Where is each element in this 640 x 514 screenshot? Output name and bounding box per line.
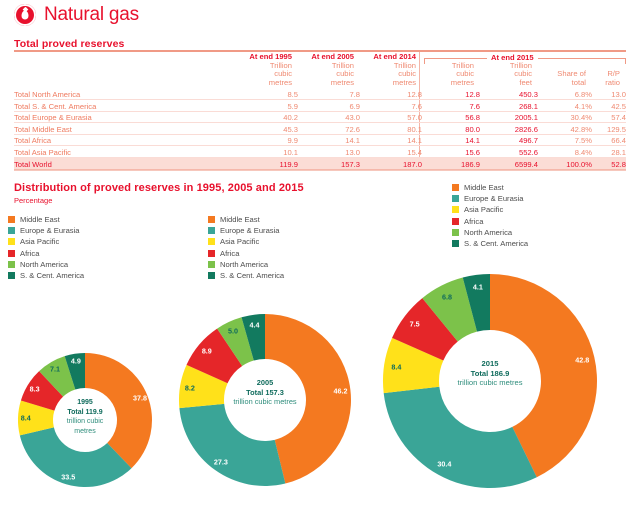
legend-item: S. & Cent. America (8, 270, 84, 281)
legend-swatch-icon (452, 218, 459, 225)
donut-slice[interactable] (422, 278, 477, 342)
table-row-label: Total Europe & Eurasia (14, 111, 236, 123)
legend-label: Middle East (220, 214, 260, 225)
table-cell-share: 8.4% (538, 146, 592, 158)
table-body: Total North America8.57.812.812.8450.36.… (14, 88, 626, 170)
legend-swatch-icon (452, 229, 459, 236)
donut-slice-label: 6.8 (442, 292, 452, 301)
legend-swatch-icon (8, 227, 15, 234)
legend-item: Asia Pacific (8, 236, 84, 247)
legend-label: Asia Pacific (20, 236, 59, 247)
legend-label: Europe & Eurasia (464, 193, 524, 204)
table-row-total-world: Total World119.9157.3187.0186.96599.4100… (14, 158, 626, 170)
col-header-1995: At end 1995 Trillion cubic metres (236, 52, 298, 88)
table-cell-v2005: 43.0 (298, 111, 360, 123)
donut-center-year: 1995 (56, 398, 114, 408)
legend-label: Middle East (464, 182, 504, 193)
table-cell-rp: 13.0 (592, 88, 626, 100)
legend-swatch-icon (208, 216, 215, 223)
donut-center-unit: trillion cubic metres (227, 397, 303, 407)
donut-slice-label: 8.3 (30, 384, 40, 393)
donut-center-unit: trillion cubic metres (442, 378, 538, 388)
legend-swatch-icon (208, 250, 215, 257)
legend-item: S. & Cent. America (208, 270, 284, 281)
table-bottom-rule (14, 170, 626, 171)
table-row: Total Europe & Eurasia40.243.057.056.820… (14, 111, 626, 123)
legend-swatch-icon (452, 184, 459, 191)
col-header-2015-tcm: Trillion cubic metres (422, 52, 480, 88)
donut-slice-label: 8.9 (202, 346, 212, 355)
table-cell-v2005: 7.8 (298, 88, 360, 100)
table-cell-v2005: 13.0 (298, 146, 360, 158)
legend-swatch-icon (208, 272, 215, 279)
legend-item: Europe & Eurasia (8, 225, 84, 236)
donut-slice-label: 4.1 (473, 283, 483, 292)
table-cell-tcf2015: 2826.6 (480, 123, 538, 135)
donut-slice-label: 7.1 (50, 364, 60, 373)
legend-label: Europe & Eurasia (220, 225, 280, 236)
col-header-share: Share of total (538, 52, 592, 88)
legend-item: Middle East (8, 214, 84, 225)
table-cell-v2014: 15.4 (360, 146, 422, 158)
legend-swatch-icon (208, 238, 215, 245)
col-header-share-l2: total (538, 79, 586, 87)
donut-slice[interactable] (179, 404, 285, 486)
legend-label: North America (464, 227, 512, 238)
table-cell-v1995: 5.9 (236, 100, 298, 112)
legend-label: Africa (220, 248, 239, 259)
table-row: Total Middle East45.372.680.180.02826.64… (14, 123, 626, 135)
donut-slice[interactable] (217, 317, 254, 366)
legend-item: S. & Cent. America (452, 238, 528, 249)
table-cell-tcf2015: 552.6 (480, 146, 538, 158)
section-title-total-proved-reserves: Total proved reserves (14, 38, 124, 50)
donut-center-label: 2015Total 186.9trillion cubic metres (442, 359, 538, 388)
table-cell-v2005: 157.3 (298, 158, 360, 170)
legend-label: S. & Cent. America (464, 238, 528, 249)
table-row: Total S. & Cent. America5.96.97.67.6268.… (14, 100, 626, 112)
table-cell-tcf2015: 450.3 (480, 88, 538, 100)
col-header-rp: R/P ratio (592, 52, 626, 88)
col-header-2005: At end 2005 Trillion cubic metres (298, 52, 360, 88)
donut-slice-label: 7.5 (410, 319, 420, 328)
legend-item: Europe & Eurasia (208, 225, 284, 236)
legend-item: Asia Pacific (452, 204, 528, 215)
table-row: Total Asia Pacific10.113.015.415.6552.68… (14, 146, 626, 158)
table-cell-v2005: 6.9 (298, 100, 360, 112)
table-cell-tcf2015: 2005.1 (480, 111, 538, 123)
col-header-1995-unit-l3: metres (236, 79, 292, 87)
donut-slice-label: 4.4 (250, 320, 260, 329)
table-cell-tcf2015: 6599.4 (480, 158, 538, 170)
col-header-2014: At end 2014 Trillion cubic metres (360, 52, 422, 88)
legend-item: Africa (452, 216, 528, 227)
table-cell-t2015: 186.9 (422, 158, 480, 170)
table-cell-v2014: 57.0 (360, 111, 422, 123)
table-cell-share: 7.5% (538, 134, 592, 146)
legend-label: Asia Pacific (464, 204, 503, 215)
table-corner-cell (14, 52, 236, 88)
table-cell-share: 30.4% (538, 111, 592, 123)
table-cell-t2015: 80.0 (422, 123, 480, 135)
legend-item: North America (8, 259, 84, 270)
table-cell-v1995: 9.9 (236, 134, 298, 146)
legend-1995: Middle EastEurope & EurasiaAsia PacificA… (8, 214, 84, 281)
page-title: Natural gas (44, 4, 139, 26)
table-row-label: Total S. & Cent. America (14, 100, 236, 112)
donut-slice[interactable] (39, 356, 75, 397)
page-header: Natural gas (14, 4, 139, 26)
legend-label: North America (220, 259, 268, 270)
table-cell-share: 100.0% (538, 158, 592, 170)
legend-label: Middle East (20, 214, 60, 225)
table-cell-v1995: 45.3 (236, 123, 298, 135)
table-cell-v1995: 10.1 (236, 146, 298, 158)
table-cell-rp: 52.8 (592, 158, 626, 170)
table-row: Total North America8.57.812.812.8450.36.… (14, 88, 626, 100)
table-cell-v2005: 72.6 (298, 123, 360, 135)
donut-center-total: Total 186.9 (442, 369, 538, 379)
donut-center-total: Total 157.3 (227, 388, 303, 398)
donut-slice-label: 27.3 (214, 457, 228, 466)
table-cell-rp: 42.5 (592, 100, 626, 112)
donut-slice-label: 8.2 (185, 383, 195, 392)
table-row-label: Total North America (14, 88, 236, 100)
legend-label: S. & Cent. America (220, 270, 284, 281)
table-cell-v2014: 12.8 (360, 88, 422, 100)
table-cell-t2015: 56.8 (422, 111, 480, 123)
donut-slice-label: 46.2 (334, 386, 348, 395)
table-row-label: Total Middle East (14, 123, 236, 135)
table-row: Total Africa9.914.114.114.1496.77.5%66.4 (14, 134, 626, 146)
donut-center-year: 2005 (227, 378, 303, 388)
flame-circle-icon (14, 4, 36, 26)
table-cell-t2015: 14.1 (422, 134, 480, 146)
table-cell-t2015: 7.6 (422, 100, 480, 112)
donut-center-unit: trillion cubic metres (56, 417, 114, 436)
table-cell-v2014: 187.0 (360, 158, 422, 170)
legend-label: North America (20, 259, 68, 270)
section-title-distribution: Distribution of proved reserves in 1995,… (14, 182, 304, 194)
legend-swatch-icon (8, 216, 15, 223)
table-row-label: Total Asia Pacific (14, 146, 236, 158)
col-header-2015-tcm-l3: metres (422, 79, 474, 87)
donut-slice[interactable] (392, 298, 458, 360)
table-cell-v2014: 80.1 (360, 123, 422, 135)
legend-swatch-icon (8, 238, 15, 245)
col-header-2015-tcf-l3: feet (480, 79, 532, 87)
table-cell-rp: 57.4 (592, 111, 626, 123)
legend-swatch-icon (452, 206, 459, 213)
table-cell-rp: 28.1 (592, 146, 626, 158)
donut-slice-label: 4.9 (71, 357, 81, 366)
legend-label: Africa (20, 248, 39, 259)
donut-center-label: 1995Total 119.9trillion cubic metres (56, 398, 114, 436)
legend-swatch-icon (208, 227, 215, 234)
col-header-2015-tcf: Trillion cubic feet (480, 52, 538, 88)
legend-label: Asia Pacific (220, 236, 259, 247)
col-header-rp-l2: ratio (592, 79, 620, 87)
donut-slice-label: 33.5 (61, 472, 75, 481)
donut-slice-label: 37.8 (133, 393, 147, 402)
legend-item: Asia Pacific (208, 236, 284, 247)
legend-item: Middle East (452, 182, 528, 193)
donut-slice[interactable] (187, 329, 243, 384)
table-cell-share: 4.1% (538, 100, 592, 112)
legend-item: Europe & Eurasia (452, 193, 528, 204)
legend-item: Africa (8, 248, 84, 259)
table-cell-t2015: 12.8 (422, 88, 480, 100)
donut-slice-label: 30.4 (437, 459, 451, 468)
legend-swatch-icon (8, 272, 15, 279)
donut-slice[interactable] (384, 387, 537, 488)
legend-swatch-icon (452, 240, 459, 247)
legend-item: Africa (208, 248, 284, 259)
table-cell-v1995: 119.9 (236, 158, 298, 170)
table-head: At end 1995 Trillion cubic metres At end… (14, 52, 626, 88)
table-cell-v1995: 40.2 (236, 111, 298, 123)
legend-item: North America (208, 259, 284, 270)
legend-swatch-icon (8, 261, 15, 268)
legend-swatch-icon (208, 261, 215, 268)
donut-slice-label: 8.4 (391, 362, 401, 371)
table-cell-rp: 66.4 (592, 134, 626, 146)
table-cell-t2015: 15.6 (422, 146, 480, 158)
legend-label: Europe & Eurasia (20, 225, 80, 236)
table-cell-v1995: 8.5 (236, 88, 298, 100)
legend-swatch-icon (8, 250, 15, 257)
col-header-2014-unit-l3: metres (360, 79, 416, 87)
table-cell-v2014: 14.1 (360, 134, 422, 146)
table-row-label: Total World (14, 158, 236, 170)
donut-slice-label: 42.8 (575, 355, 589, 364)
legend-label: S. & Cent. America (20, 270, 84, 281)
legend-label: Africa (464, 216, 483, 227)
legend-swatch-icon (452, 195, 459, 202)
table-cell-v2014: 7.6 (360, 100, 422, 112)
table-row-label: Total Africa (14, 134, 236, 146)
donut-slice-label: 5.0 (228, 326, 238, 335)
table-cell-share: 6.8% (538, 88, 592, 100)
table-cell-tcf2015: 268.1 (480, 100, 538, 112)
proved-reserves-table: At end 1995 Trillion cubic metres At end… (14, 52, 626, 170)
donut-center-label: 2005Total 157.3trillion cubic metres (227, 378, 303, 407)
legend-2005: Middle EastEurope & EurasiaAsia PacificA… (208, 214, 284, 281)
legend-2015: Middle EastEurope & EurasiaAsia PacificA… (452, 182, 528, 249)
donut-slice-label: 8.4 (21, 414, 31, 423)
table-cell-share: 42.8% (538, 123, 592, 135)
legend-item: North America (452, 227, 528, 238)
legend-item: Middle East (208, 214, 284, 225)
table-cell-rp: 129.5 (592, 123, 626, 135)
col-header-2005-unit-l3: metres (298, 79, 354, 87)
table-cell-tcf2015: 496.7 (480, 134, 538, 146)
table-cell-v2005: 14.1 (298, 134, 360, 146)
donut-center-year: 2015 (442, 359, 538, 369)
donut-center-total: Total 119.9 (56, 408, 114, 418)
section-subtitle-percentage: Percentage (14, 196, 52, 205)
